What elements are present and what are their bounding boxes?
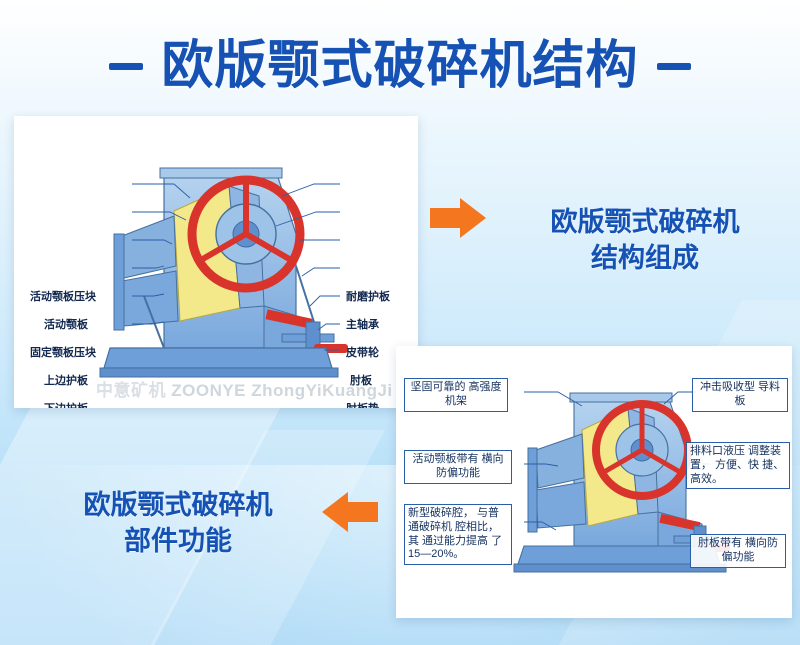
top-label-left-3: 上边护板 [44,372,88,388]
top-label-left-2: 固定颚板压块 [30,344,96,360]
bottom-label-right-1: 排料口液压 调整装置， 方便、快 捷、高效。 [686,442,790,489]
callout-right-line2: 结构组成 [500,241,790,277]
bottom-diagram-card: 坚固可靠的 高强度机架 活动颚板带有 横向防偏功能 新型破碎腔， 与普通破碎机 … [396,346,792,618]
callout-left-line1: 欧版颚式破碎机 [28,488,328,524]
watermark-en: ZOONYE ZhongYiKuangJi [171,381,392,400]
title-dash-left [109,63,143,70]
page-canvas: 欧版颚式破碎机结构 [0,0,800,645]
bottom-label-left-0: 坚固可靠的 高强度机架 [404,378,508,412]
watermark-cn: 中意矿机 [96,381,166,400]
bottom-label-left-1: 活动颚板带有 横向防偏功能 [404,450,512,484]
top-label-left-0: 活动颚板压块 [30,288,96,304]
callout-right-line1: 欧版颚式破碎机 [500,205,790,241]
jaw-crusher-structure-diagram [14,116,418,408]
arrow-right-icon [430,198,486,238]
callout-right: 欧版颚式破碎机 结构组成 [500,205,790,276]
callout-left-line2: 部件功能 [28,524,328,560]
top-label-right-0: 耐磨护板 [346,288,390,304]
top-label-left-1: 活动颚板 [44,316,88,332]
top-diagram-card: 活动颚板压块 活动颚板 固定颚板压块 上边护板 下边护板 固定颚板 耐磨护板 主… [14,116,418,408]
arrow-left-icon [322,492,378,532]
top-label-left-4: 下边护板 [44,400,88,408]
bottom-label-left-2: 新型破碎腔， 与普通破碎机 腔相比，其 通过能力提高 了15—20%。 [404,504,512,565]
callout-left: 欧版颚式破碎机 部件功能 [28,488,328,559]
top-label-right-2: 皮带轮 [346,344,379,360]
watermark: 中意矿机 ZOONYE ZhongYiKuangJi [96,376,393,401]
title-dash-right [657,63,691,70]
top-label-right-1: 主轴承 [346,316,379,332]
bottom-label-right-0: 冲击吸收型 导料板 [692,378,788,412]
top-label-right-4: 肘板垫 [346,400,379,408]
bottom-label-right-2: 肘板带有 横向防偏功能 [690,534,786,568]
title-bar: 欧版颚式破碎机结构 [0,26,800,106]
page-title: 欧版颚式破碎机结构 [161,40,638,92]
